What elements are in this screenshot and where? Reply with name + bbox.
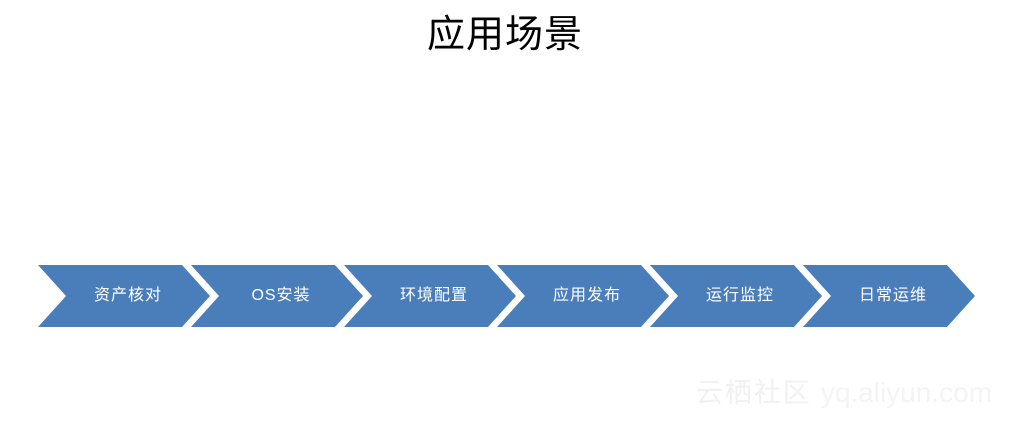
process-step-label: 资产核对 bbox=[94, 286, 162, 306]
process-step-4[interactable]: 应用发布 bbox=[497, 265, 669, 327]
process-step-label: 环境配置 bbox=[400, 286, 468, 306]
watermark: 云栖社区 yq.aliyun.com bbox=[696, 378, 992, 408]
process-step-6[interactable]: 日常运维 bbox=[803, 265, 975, 327]
page-title: 应用场景 bbox=[0, 12, 1010, 58]
process-step-3[interactable]: 环境配置 bbox=[344, 265, 516, 327]
watermark-url: yq.aliyun.com bbox=[821, 378, 992, 408]
process-step-label: 日常运维 bbox=[859, 286, 927, 306]
watermark-brand: 云栖社区 bbox=[696, 378, 812, 408]
process-step-label: OS安装 bbox=[251, 286, 310, 306]
process-step-label: 运行监控 bbox=[706, 286, 774, 306]
process-step-label: 应用发布 bbox=[553, 286, 621, 306]
process-step-2[interactable]: OS安装 bbox=[191, 265, 363, 327]
process-step-1[interactable]: 资产核对 bbox=[38, 265, 210, 327]
process-step-5[interactable]: 运行监控 bbox=[650, 265, 822, 327]
process-chevron-diagram: 资产核对 OS安装 环境配置 应用发布 运行监控 日常运维 bbox=[38, 265, 975, 327]
slide-canvas: 应用场景 资产核对 OS安装 环境配置 应用发布 运行监控 日常运维 云栖社区 … bbox=[0, 0, 1010, 424]
